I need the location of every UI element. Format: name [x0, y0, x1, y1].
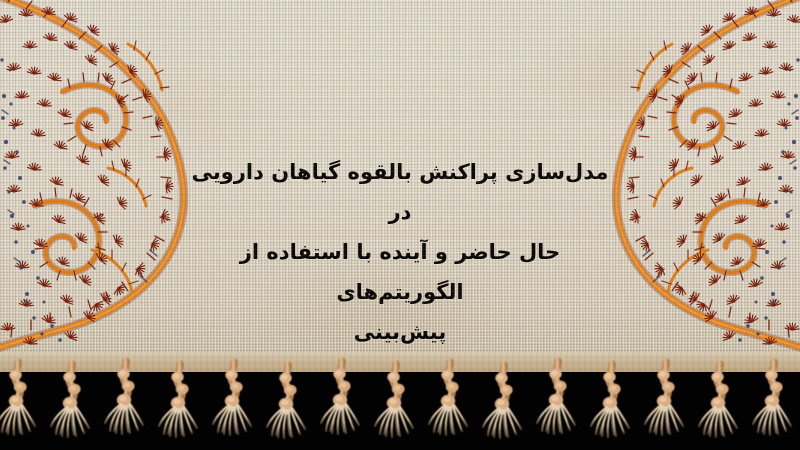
page-title: مدل‌سازی پراکنش بالقوه گیاهان دارویی در …	[185, 152, 615, 352]
textile-title-card: مدل‌سازی پراکنش بالقوه گیاهان دارویی در …	[0, 0, 800, 450]
fabric-panel: مدل‌سازی پراکنش بالقوه گیاهان دارویی در …	[0, 0, 800, 372]
fabric-bottom-edge	[0, 352, 800, 372]
